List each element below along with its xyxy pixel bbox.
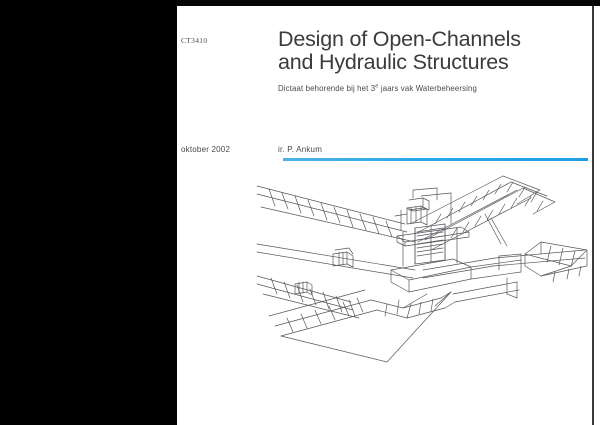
course-code: CT3410 — [181, 36, 207, 45]
scan-right-page-edge — [592, 6, 594, 425]
subtitle: Dictaat behorende bij het 3e jaars vak W… — [278, 84, 588, 93]
upper-right-embankment — [410, 176, 555, 250]
page-title-line-1: Design of Open-Channels — [278, 28, 588, 51]
title-block: Design of Open-Channels and Hydraulic St… — [278, 28, 588, 93]
lower-left-embankment — [257, 276, 359, 318]
left-bank-small-structure — [333, 248, 353, 267]
accent-rule — [283, 158, 588, 161]
lower-right-channel-arm — [435, 278, 519, 306]
scan-right-outer-margin — [596, 6, 600, 425]
lower-foreground-banks — [269, 290, 455, 362]
hydraulic-structure-illustration — [255, 166, 592, 366]
document-scan-viewport: CT3410 Design of Open-Channels and Hydra… — [0, 0, 600, 425]
publication-date: oktober 2002 — [181, 145, 230, 154]
subtitle-text-after: jaars vak Waterbeheersing — [379, 84, 478, 93]
right-bank-wing-wall — [525, 242, 587, 282]
book-cover-page: CT3410 Design of Open-Channels and Hydra… — [177, 6, 592, 425]
page-title-line-2: and Hydraulic Structures — [278, 51, 588, 74]
author-name: ir. P. Ankum — [278, 145, 322, 154]
subtitle-text-before: Dictaat behorende bij het 3 — [278, 84, 375, 93]
upper-left-embankment — [257, 186, 415, 242]
scan-left-margin — [0, 0, 177, 425]
